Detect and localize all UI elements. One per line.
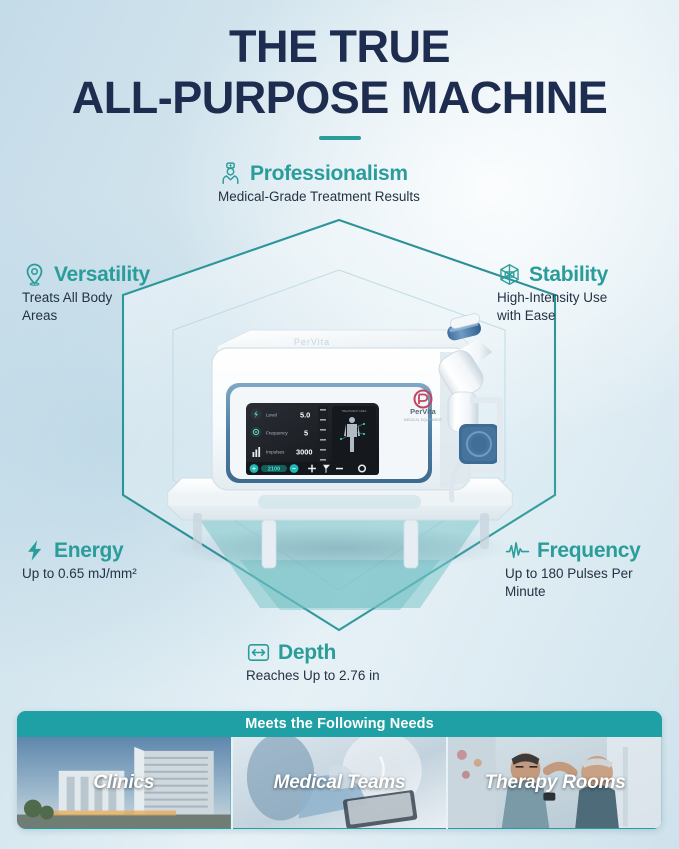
- feature-depth: Depth Reaches Up to 2.76 in: [246, 640, 380, 685]
- lightning-bolt-icon: [22, 538, 47, 563]
- needs-banner: Meets the Following Needs: [17, 711, 662, 829]
- pulse-wave-icon: [505, 538, 530, 563]
- feature-frequency-head: Frequency: [505, 538, 655, 563]
- feature-professionalism: Professionalism Medical-Grade Treatment …: [218, 161, 420, 206]
- feature-versatility: Versatility Treats All Body Areas: [22, 262, 150, 325]
- page-header: THE TRUE ALL-PURPOSE MACHINE: [0, 0, 679, 140]
- feature-versatility-desc: Treats All Body Areas: [22, 289, 142, 325]
- cube-lattice-icon: [497, 262, 522, 287]
- needs-cell-medical-teams-label: Medical Teams: [233, 772, 447, 794]
- feature-frequency: Frequency Up to 180 Pulses Per Minute: [505, 538, 655, 601]
- double-arrow-box-icon: [246, 640, 271, 665]
- feature-stability-head: Stability: [497, 262, 632, 287]
- feature-stability-desc: High-Intensity Use with Ease: [497, 289, 632, 325]
- hexagon-outline-graphic: [0, 140, 679, 700]
- feature-professionalism-desc: Medical-Grade Treatment Results: [218, 188, 420, 206]
- hexagon-stage: [0, 140, 679, 700]
- feature-professionalism-head: Professionalism: [218, 161, 420, 186]
- feature-frequency-title: Frequency: [537, 539, 641, 563]
- feature-professionalism-title: Professionalism: [250, 162, 408, 186]
- needs-cell-clinics[interactable]: Clinics: [17, 737, 231, 829]
- feature-depth-desc: Reaches Up to 2.76 in: [246, 667, 380, 685]
- feature-depth-head: Depth: [246, 640, 380, 665]
- page-title-line2: ALL-PURPOSE MACHINE: [0, 75, 679, 121]
- feature-depth-title: Depth: [278, 641, 336, 665]
- needs-banner-title: Meets the Following Needs: [17, 711, 662, 737]
- feature-versatility-head: Versatility: [22, 262, 150, 287]
- feature-energy-head: Energy: [22, 538, 137, 563]
- needs-cell-clinics-label: Clinics: [17, 772, 231, 794]
- feature-stability-title: Stability: [529, 263, 608, 287]
- location-pin-icon: [22, 262, 47, 287]
- needs-cell-therapy-rooms-label: Therapy Rooms: [448, 772, 662, 794]
- needs-cell-medical-teams[interactable]: Medical Teams: [231, 737, 447, 829]
- feature-stability: Stability High-Intensity Use with Ease: [497, 262, 632, 325]
- feature-energy: Energy Up to 0.65 mJ/mm²: [22, 538, 137, 583]
- doctor-icon: [218, 161, 243, 186]
- needs-cell-therapy-rooms[interactable]: Therapy Rooms: [446, 737, 662, 829]
- feature-energy-desc: Up to 0.65 mJ/mm²: [22, 565, 137, 583]
- feature-energy-title: Energy: [54, 539, 123, 563]
- needs-banner-row: Clinics Medical Teams: [17, 737, 662, 829]
- feature-versatility-title: Versatility: [54, 263, 150, 287]
- title-divider: [319, 136, 361, 140]
- page-title-line1: THE TRUE: [0, 24, 679, 70]
- feature-frequency-desc: Up to 180 Pulses Per Minute: [505, 565, 655, 601]
